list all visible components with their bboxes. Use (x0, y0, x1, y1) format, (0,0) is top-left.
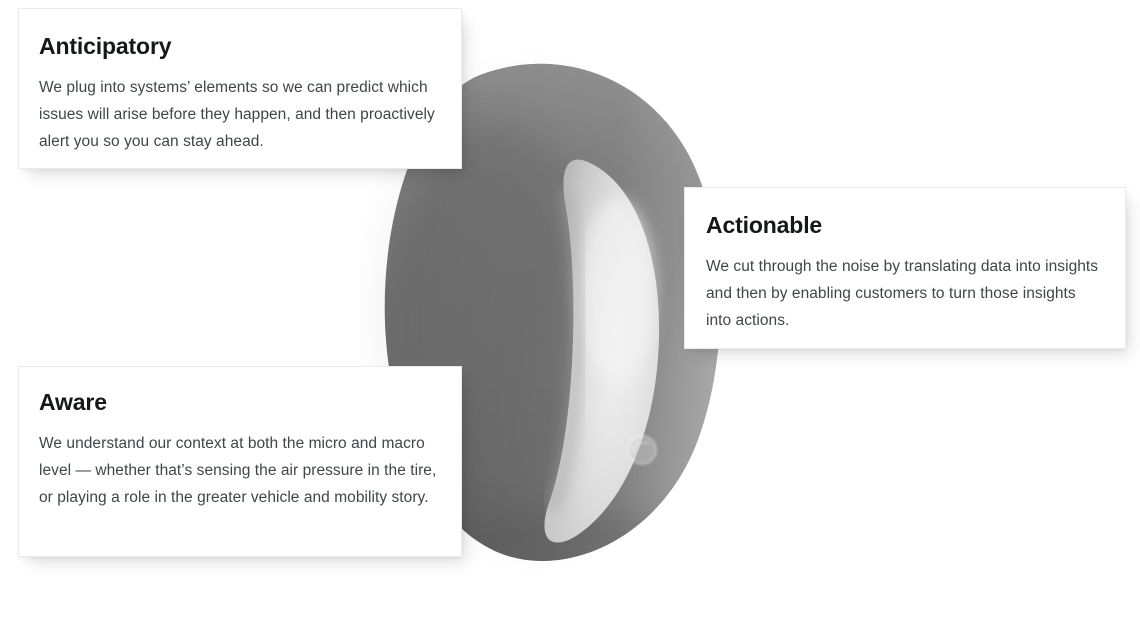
feature-cards-stage: Anticipatory We plug into systems’ eleme… (0, 0, 1140, 641)
card-content: Aware We understand our context at both … (19, 367, 461, 533)
feature-card-actionable[interactable]: Actionable We cut through the noise by t… (684, 187, 1126, 349)
feature-card-aware[interactable]: Aware We understand our context at both … (18, 366, 462, 557)
card-title: Anticipatory (39, 33, 439, 60)
card-title: Actionable (706, 212, 1103, 239)
card-body: We plug into systems’ elements so we can… (39, 74, 439, 155)
card-content: Anticipatory We plug into systems’ eleme… (19, 9, 461, 177)
card-body: We understand our context at both the mi… (39, 430, 439, 511)
card-title: Aware (39, 389, 439, 416)
card-content: Actionable We cut through the noise by t… (685, 188, 1125, 356)
feature-card-anticipatory[interactable]: Anticipatory We plug into systems’ eleme… (18, 8, 462, 169)
sensor-emblem (628, 436, 656, 464)
card-body: We cut through the noise by translating … (706, 253, 1103, 334)
